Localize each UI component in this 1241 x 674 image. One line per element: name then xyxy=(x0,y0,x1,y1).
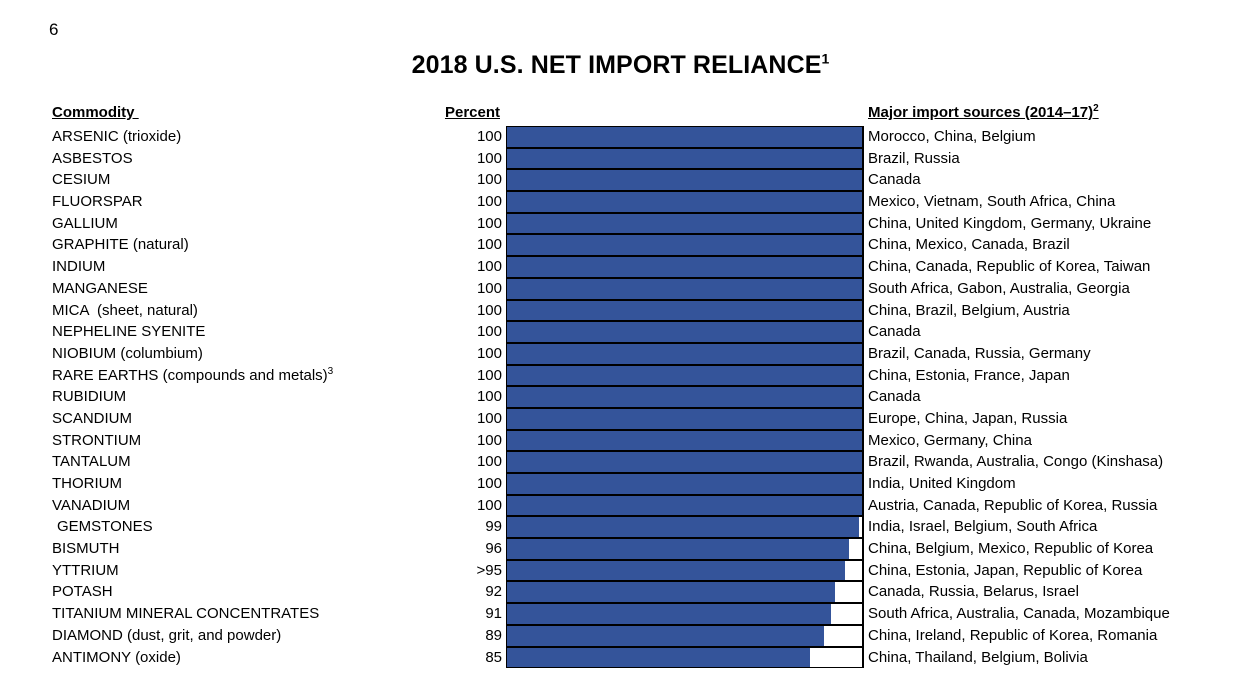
bar-track xyxy=(506,169,863,191)
commodity-name: POTASH xyxy=(52,582,113,601)
chart-right-axis-line xyxy=(862,191,864,213)
commodity-name-text: THORIUM xyxy=(52,475,122,492)
bar-fill xyxy=(507,322,863,342)
commodity-name: DIAMOND (dust, grit, and powder) xyxy=(52,626,281,645)
table-row: THORIUM100India, United Kingdom xyxy=(0,473,1241,495)
commodity-name: VANADIUM xyxy=(52,496,130,515)
bar-fill xyxy=(507,192,863,212)
commodity-name-text: TITANIUM MINERAL CONCENTRATES xyxy=(52,605,319,622)
major-import-sources: Morocco, China, Belgium xyxy=(868,127,1036,146)
commodity-name-text: GEMSTONES xyxy=(57,518,153,535)
bar-track xyxy=(506,581,863,603)
commodity-name: ANTIMONY (oxide) xyxy=(52,648,181,667)
commodity-name: MANGANESE xyxy=(52,279,148,298)
chart-right-axis-line xyxy=(862,148,864,170)
bar-track xyxy=(506,191,863,213)
bar-track xyxy=(506,647,863,669)
percent-value: 92 xyxy=(374,582,502,601)
major-import-sources: China, Thailand, Belgium, Bolivia xyxy=(868,648,1088,667)
commodity-name: RUBIDIUM xyxy=(52,387,126,406)
bar-track xyxy=(506,213,863,235)
chart-right-axis-line xyxy=(862,365,864,387)
chart-right-axis-line xyxy=(862,647,864,669)
major-import-sources: China, Brazil, Belgium, Austria xyxy=(868,301,1070,320)
table-row: ASBESTOS100Brazil, Russia xyxy=(0,148,1241,170)
major-import-sources: Brazil, Rwanda, Australia, Congo (Kinsha… xyxy=(868,452,1163,471)
page-title-footnote-marker: 1 xyxy=(822,51,830,67)
commodity-name-text: DIAMOND (dust, grit, and powder) xyxy=(52,627,281,644)
percent-value: 100 xyxy=(374,279,502,298)
chart-right-axis-line xyxy=(862,343,864,365)
table-row: ANTIMONY (oxide)85China, Thailand, Belgi… xyxy=(0,647,1241,669)
table-row: VANADIUM100Austria, Canada, Republic of … xyxy=(0,495,1241,517)
table-row: SCANDIUM100Europe, China, Japan, Russia xyxy=(0,408,1241,430)
chart-right-axis-line xyxy=(862,321,864,343)
table-row: RUBIDIUM100Canada xyxy=(0,386,1241,408)
commodity-name-text: CESIUM xyxy=(52,171,110,188)
column-header-percent: Percent xyxy=(374,104,500,121)
chart-right-axis-line xyxy=(862,430,864,452)
commodity-name-text: SCANDIUM xyxy=(52,410,132,427)
column-header-commodity: Commodity xyxy=(52,104,139,121)
chart-right-axis-line xyxy=(862,451,864,473)
percent-value: 100 xyxy=(374,431,502,450)
commodity-name: INDIUM xyxy=(52,257,105,276)
major-import-sources: Canada xyxy=(868,322,921,341)
table-row: TITANIUM MINERAL CONCENTRATES91South Afr… xyxy=(0,603,1241,625)
commodity-name-text: RUBIDIUM xyxy=(52,388,126,405)
commodity-name-text: GALLIUM xyxy=(52,215,118,232)
commodity-name: FLUORSPAR xyxy=(52,192,143,211)
percent-value: 99 xyxy=(374,517,502,536)
commodity-name: ASBESTOS xyxy=(52,149,133,168)
major-import-sources: China, Belgium, Mexico, Republic of Kore… xyxy=(868,539,1153,558)
bar-fill xyxy=(507,452,863,472)
bar-fill xyxy=(507,539,849,559)
chart-right-axis-line xyxy=(862,213,864,235)
commodity-name-text: ASBESTOS xyxy=(52,150,133,167)
page-title: 2018 U.S. NET IMPORT RELIANCE1 xyxy=(0,50,1241,80)
percent-value: 100 xyxy=(374,149,502,168)
bar-track xyxy=(506,538,863,560)
bar-fill xyxy=(507,604,831,624)
table-row: GRAPHITE (natural)100China, Mexico, Cana… xyxy=(0,234,1241,256)
bar-track xyxy=(506,430,863,452)
chart-right-axis-line xyxy=(862,169,864,191)
chart-right-axis-line xyxy=(862,300,864,322)
bar-fill xyxy=(507,409,863,429)
major-import-sources: South Africa, Gabon, Australia, Georgia xyxy=(868,279,1130,298)
commodity-name: GEMSTONES xyxy=(57,517,153,536)
commodity-name: RARE EARTHS (compounds and metals)3 xyxy=(52,366,333,385)
commodity-name: NIOBIUM (columbium) xyxy=(52,344,203,363)
bar-track xyxy=(506,256,863,278)
commodity-name: THORIUM xyxy=(52,474,122,493)
bar-track xyxy=(506,516,863,538)
commodity-name: GRAPHITE (natural) xyxy=(52,235,189,254)
commodity-name-text: RARE EARTHS (compounds and metals) xyxy=(52,367,328,384)
percent-value: 100 xyxy=(374,235,502,254)
table-body: ARSENIC (trioxide)100Morocco, China, Bel… xyxy=(0,126,1241,668)
commodity-name-text: NEPHELINE SYENITE xyxy=(52,323,205,340)
page-title-text: 2018 U.S. NET IMPORT RELIANCE xyxy=(412,51,822,79)
bar-track xyxy=(506,625,863,647)
commodity-name: BISMUTH xyxy=(52,539,120,558)
commodity-name: YTTRIUM xyxy=(52,561,119,580)
bar-fill xyxy=(507,496,863,516)
commodity-name-text: YTTRIUM xyxy=(52,562,119,579)
commodity-name: TANTALUM xyxy=(52,452,131,471)
percent-value: 100 xyxy=(374,366,502,385)
major-import-sources: China, United Kingdom, Germany, Ukraine xyxy=(868,214,1151,233)
bar-fill xyxy=(507,279,863,299)
table-row: TANTALUM100Brazil, Rwanda, Australia, Co… xyxy=(0,451,1241,473)
percent-value: 96 xyxy=(374,539,502,558)
major-import-sources: Canada, Russia, Belarus, Israel xyxy=(868,582,1079,601)
commodity-footnote-marker: 3 xyxy=(328,366,334,377)
bar-fill xyxy=(507,257,863,277)
major-import-sources: Mexico, Germany, China xyxy=(868,431,1032,450)
bar-track xyxy=(506,451,863,473)
chart-right-axis-line xyxy=(862,603,864,625)
bar-fill xyxy=(507,301,863,321)
chart-right-axis-line xyxy=(862,560,864,582)
major-import-sources: China, Canada, Republic of Korea, Taiwan xyxy=(868,257,1150,276)
percent-value: 100 xyxy=(374,127,502,146)
major-import-sources: Brazil, Russia xyxy=(868,149,960,168)
column-header-sources-footnote-marker: 2 xyxy=(1093,103,1099,114)
percent-value: 100 xyxy=(374,192,502,211)
commodity-name: ARSENIC (trioxide) xyxy=(52,127,181,146)
table-row: RARE EARTHS (compounds and metals)3100Ch… xyxy=(0,365,1241,387)
bar-fill xyxy=(507,582,835,602)
import-reliance-table: Commodity Percent Major import sources (… xyxy=(0,104,1241,668)
commodity-name-text: MICA (sheet, natural) xyxy=(52,302,198,319)
bar-track xyxy=(506,386,863,408)
bar-fill xyxy=(507,474,863,494)
commodity-name-text: FLUORSPAR xyxy=(52,193,143,210)
major-import-sources: Europe, China, Japan, Russia xyxy=(868,409,1067,428)
commodity-name-text: STRONTIUM xyxy=(52,432,141,449)
table-row: GALLIUM100China, United Kingdom, Germany… xyxy=(0,213,1241,235)
bar-track xyxy=(506,560,863,582)
commodity-name-text: POTASH xyxy=(52,583,113,600)
commodity-name: NEPHELINE SYENITE xyxy=(52,322,205,341)
commodity-name: MICA (sheet, natural) xyxy=(52,301,198,320)
chart-right-axis-line xyxy=(862,625,864,647)
bar-track xyxy=(506,126,863,148)
table-row: CESIUM100Canada xyxy=(0,169,1241,191)
chart-right-axis-line xyxy=(862,126,864,148)
commodity-name: CESIUM xyxy=(52,170,110,189)
table-row: POTASH92Canada, Russia, Belarus, Israel xyxy=(0,581,1241,603)
percent-value: 100 xyxy=(374,322,502,341)
major-import-sources: India, Israel, Belgium, South Africa xyxy=(868,517,1097,536)
bar-track xyxy=(506,278,863,300)
table-row: GEMSTONES99India, Israel, Belgium, South… xyxy=(0,516,1241,538)
bar-track xyxy=(506,473,863,495)
page-number: 6 xyxy=(49,20,58,40)
table-row: NIOBIUM (columbium)100Brazil, Canada, Ru… xyxy=(0,343,1241,365)
chart-right-axis-line xyxy=(862,234,864,256)
table-row: FLUORSPAR100Mexico, Vietnam, South Afric… xyxy=(0,191,1241,213)
commodity-name-text: ANTIMONY (oxide) xyxy=(52,649,181,666)
major-import-sources: China, Ireland, Republic of Korea, Roman… xyxy=(868,626,1157,645)
table-row: MICA (sheet, natural)100China, Brazil, B… xyxy=(0,300,1241,322)
bar-fill xyxy=(507,431,863,451)
bar-track xyxy=(506,343,863,365)
chart-right-axis-line xyxy=(862,581,864,603)
bar-fill xyxy=(507,149,863,169)
percent-value: 100 xyxy=(374,257,502,276)
chart-right-axis-line xyxy=(862,408,864,430)
major-import-sources: China, Mexico, Canada, Brazil xyxy=(868,235,1070,254)
percent-value: 100 xyxy=(374,170,502,189)
bar-fill xyxy=(507,344,863,364)
table-row: YTTRIUM>95China, Estonia, Japan, Republi… xyxy=(0,560,1241,582)
percent-value: >95 xyxy=(374,561,502,580)
bar-fill xyxy=(507,517,859,537)
major-import-sources: Mexico, Vietnam, South Africa, China xyxy=(868,192,1115,211)
bar-fill xyxy=(507,626,824,646)
chart-right-axis-line xyxy=(862,516,864,538)
bar-fill xyxy=(507,561,845,581)
percent-value: 100 xyxy=(374,409,502,428)
bar-track xyxy=(506,603,863,625)
commodity-name: GALLIUM xyxy=(52,214,118,233)
percent-value: 100 xyxy=(374,301,502,320)
chart-right-axis-line xyxy=(862,538,864,560)
major-import-sources: Austria, Canada, Republic of Korea, Russ… xyxy=(868,496,1157,515)
commodity-name-text: GRAPHITE (natural) xyxy=(52,236,189,253)
bar-track xyxy=(506,495,863,517)
percent-value: 100 xyxy=(374,474,502,493)
percent-value: 89 xyxy=(374,626,502,645)
major-import-sources: India, United Kingdom xyxy=(868,474,1016,493)
commodity-name-text: ARSENIC (trioxide) xyxy=(52,128,181,145)
table-row: INDIUM100China, Canada, Republic of Kore… xyxy=(0,256,1241,278)
major-import-sources: Canada xyxy=(868,387,921,406)
bar-fill xyxy=(507,366,863,386)
commodity-name-text: NIOBIUM (columbium) xyxy=(52,345,203,362)
bar-track xyxy=(506,408,863,430)
percent-value: 100 xyxy=(374,214,502,233)
percent-value: 100 xyxy=(374,452,502,471)
chart-right-axis-line xyxy=(862,473,864,495)
commodity-name-text: TANTALUM xyxy=(52,453,131,470)
chart-right-axis-line xyxy=(862,495,864,517)
table-row: DIAMOND (dust, grit, and powder)89China,… xyxy=(0,625,1241,647)
commodity-name-text: MANGANESE xyxy=(52,280,148,297)
bar-fill xyxy=(507,214,863,234)
major-import-sources: China, Estonia, Japan, Republic of Korea xyxy=(868,561,1142,580)
column-header-sources-text: Major import sources (2014–17) xyxy=(868,104,1093,121)
bar-track xyxy=(506,321,863,343)
commodity-name: STRONTIUM xyxy=(52,431,141,450)
table-row: NEPHELINE SYENITE100Canada xyxy=(0,321,1241,343)
chart-right-axis-line xyxy=(862,278,864,300)
chart-right-axis-line xyxy=(862,256,864,278)
percent-value: 100 xyxy=(374,387,502,406)
bar-track xyxy=(506,148,863,170)
table-row: STRONTIUM100Mexico, Germany, China xyxy=(0,430,1241,452)
major-import-sources: Brazil, Canada, Russia, Germany xyxy=(868,344,1091,363)
bar-track xyxy=(506,300,863,322)
percent-value: 91 xyxy=(374,604,502,623)
column-header-major-import-sources: Major import sources (2014–17)2 xyxy=(868,104,1099,121)
percent-value: 100 xyxy=(374,496,502,515)
table-header-row: Commodity Percent Major import sources (… xyxy=(0,104,1241,124)
bar-fill xyxy=(507,127,863,147)
chart-right-axis-line xyxy=(862,386,864,408)
commodity-name-text: VANADIUM xyxy=(52,497,130,514)
major-import-sources: South Africa, Australia, Canada, Mozambi… xyxy=(868,604,1170,623)
commodity-name: TITANIUM MINERAL CONCENTRATES xyxy=(52,604,319,623)
report-page: 6 2018 U.S. NET IMPORT RELIANCE1 Commodi… xyxy=(0,0,1241,674)
bar-fill xyxy=(507,387,863,407)
table-row: MANGANESE100South Africa, Gabon, Austral… xyxy=(0,278,1241,300)
commodity-name-text: INDIUM xyxy=(52,258,105,275)
bar-fill xyxy=(507,648,810,668)
percent-value: 100 xyxy=(374,344,502,363)
bar-track xyxy=(506,365,863,387)
major-import-sources: Canada xyxy=(868,170,921,189)
major-import-sources: China, Estonia, France, Japan xyxy=(868,366,1070,385)
bar-track xyxy=(506,234,863,256)
table-row: BISMUTH96China, Belgium, Mexico, Republi… xyxy=(0,538,1241,560)
commodity-name: SCANDIUM xyxy=(52,409,132,428)
commodity-name-text: BISMUTH xyxy=(52,540,120,557)
table-row: ARSENIC (trioxide)100Morocco, China, Bel… xyxy=(0,126,1241,148)
bar-fill xyxy=(507,170,863,190)
bar-fill xyxy=(507,235,863,255)
percent-value: 85 xyxy=(374,648,502,667)
